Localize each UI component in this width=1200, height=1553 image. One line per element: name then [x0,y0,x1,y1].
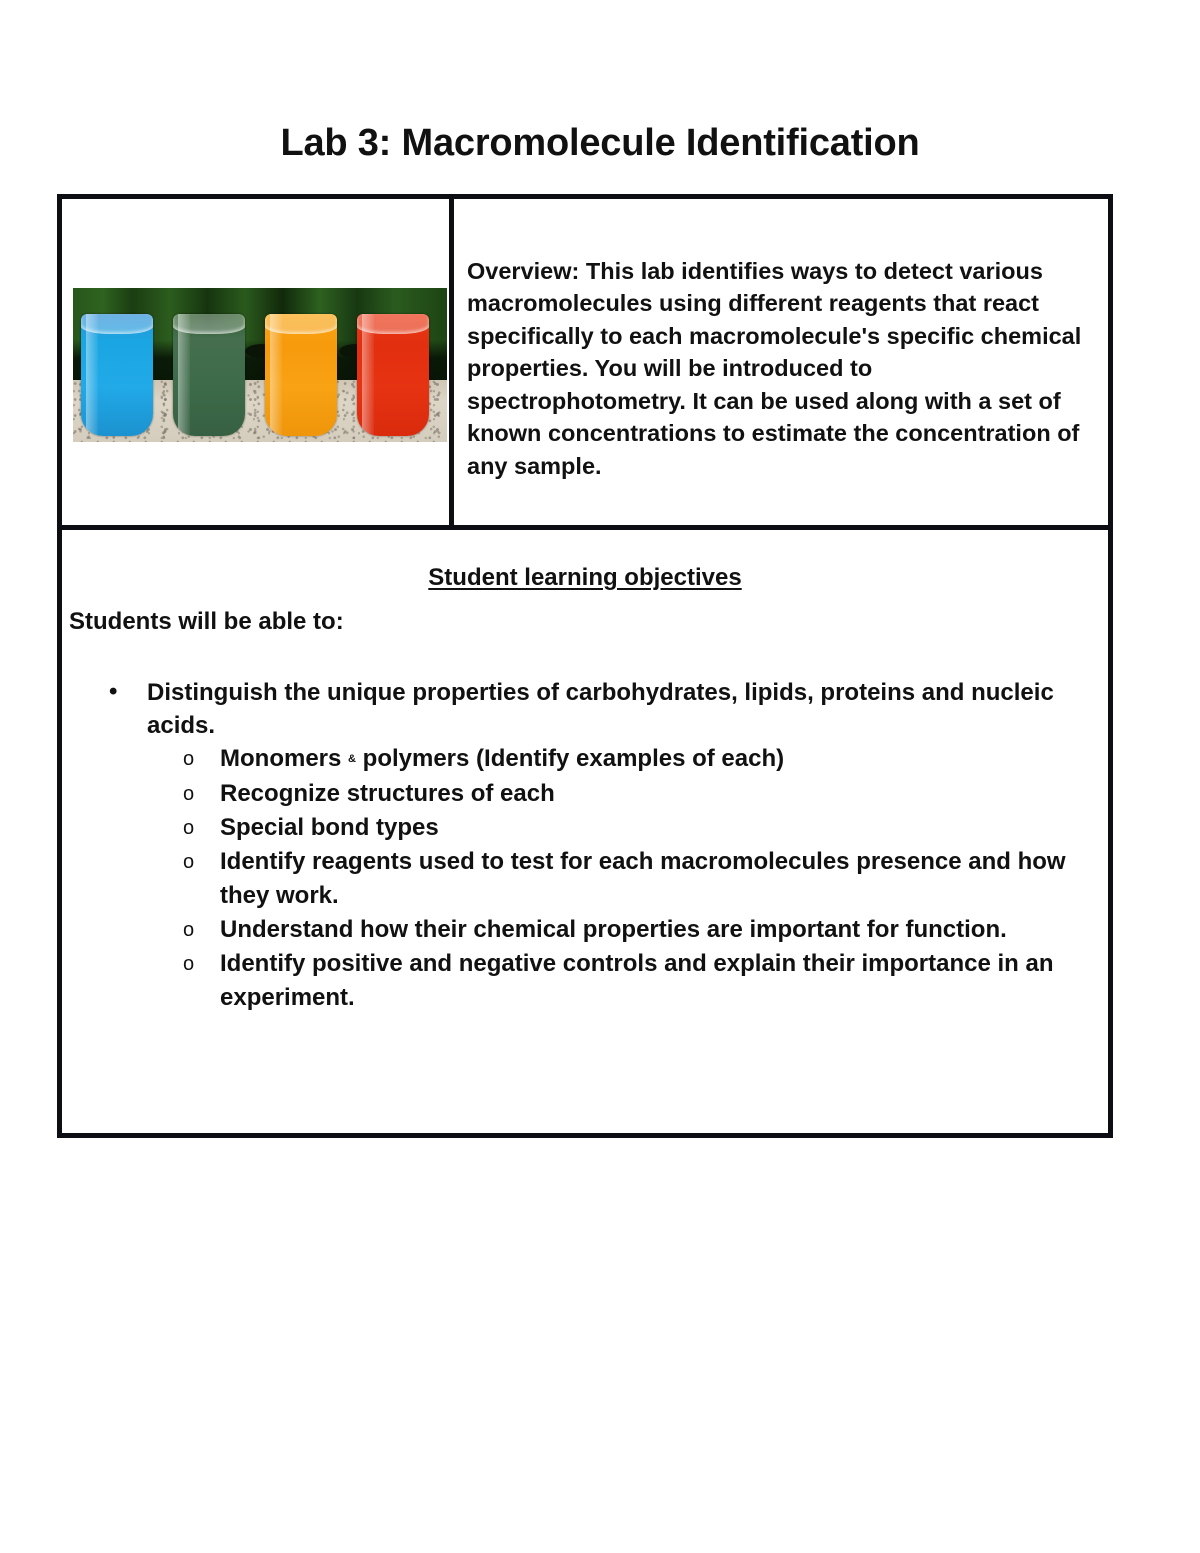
overview-image-cell [62,199,454,525]
circle-bullet-marker-icon: o [183,947,194,981]
overview-text-cell: Overview: This lab identifies ways to de… [454,199,1108,525]
objective-sublist: o Monomers & polymers (Identify examples… [62,742,1108,1015]
objective-subitem: o Identify positive and negative control… [62,947,1108,1015]
objective-subitem-label-after: polymers (Identify examples of each) [363,745,784,772]
circle-bullet-marker-icon: o [183,777,194,811]
objective-subitem: o Monomers & polymers (Identify examples… [62,742,1108,777]
green-test-tube [173,314,245,436]
objectives-row: Student learning objectives Students wil… [62,564,1108,1167]
objective-subitem-label-before: Monomers [220,745,341,772]
objective-subitem: o Understand how their chemical properti… [62,913,1108,947]
objective-subitem-label: Identify reagents used to test for each … [220,848,1066,909]
overview-paragraph: Overview: This lab identifies ways to de… [467,255,1094,483]
objective-subitem: o Identify reagents used to test for eac… [62,845,1108,913]
objective-item: • Distinguish the unique properties of c… [62,676,1108,742]
objective-subitem: o Recognize structures of each [62,777,1108,811]
overview-row: Overview: This lab identifies ways to de… [62,199,1108,530]
objective-subitem-label: Recognize structures of each [220,780,555,807]
circle-bullet-marker-icon: o [183,811,194,845]
orange-test-tube [265,314,337,436]
lab-overview-table: Overview: This lab identifies ways to de… [57,194,1113,1138]
objective-item-label: Distinguish the unique properties of car… [147,679,1054,739]
page-title: Lab 3: Macromolecule Identification [0,123,1200,165]
circle-bullet-marker-icon: o [183,913,194,947]
four-test-tubes-photo [73,288,447,442]
ampersand-symbol-icon: & [348,742,356,776]
objective-subitem-label: Understand how their chemical properties… [220,916,1007,943]
circle-bullet-marker-icon: o [183,742,194,776]
document-page: Lab 3: Macromolecule Identification Over… [0,0,1200,1553]
circle-bullet-marker-icon: o [183,845,194,879]
objective-subitem-label: Special bond types [220,814,439,841]
objective-subitem: o Special bond types [62,811,1108,845]
objective-subitem-label: Identify positive and negative controls … [220,950,1054,1011]
red-test-tube [357,314,429,436]
objectives-list: • Distinguish the unique properties of c… [62,676,1108,1015]
bullet-marker-icon: • [109,675,117,708]
objectives-lead: Students will be able to: [62,608,1108,636]
blue-test-tube [81,314,153,436]
objectives-heading: Student learning objectives [62,564,1108,592]
